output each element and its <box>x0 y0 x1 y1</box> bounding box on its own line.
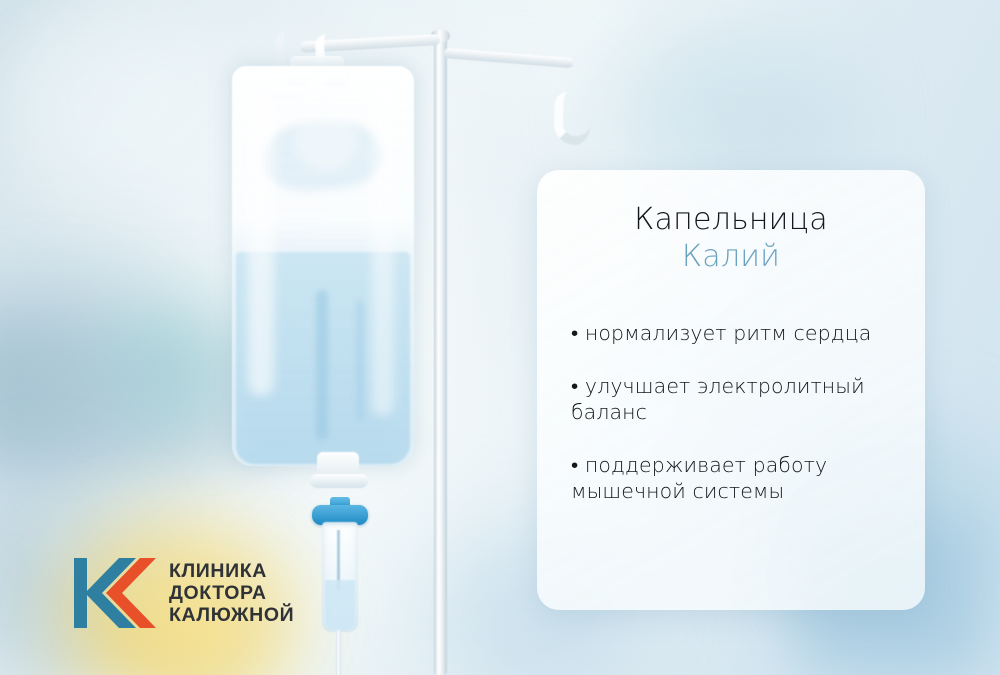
kk-monogram-icon <box>74 556 156 630</box>
logo-line: ДОКТОРА <box>169 582 294 604</box>
iv-port-ring <box>310 474 368 488</box>
card-title: Капельница <box>563 204 899 236</box>
promo-banner: Капельница Калий • нормализует ритм серд… <box>0 0 1000 675</box>
iv-pole-post <box>434 36 447 675</box>
logo-line: КАЛЮЖНОЙ <box>169 604 294 626</box>
iv-hook-icon <box>553 91 592 145</box>
list-item: • улучшает электролитный баланс <box>571 373 893 426</box>
iv-bag-highlight <box>296 110 356 170</box>
clinic-logo-text: КЛИНИКА ДОКТОРА КАЛЮЖНОЙ <box>169 560 294 627</box>
list-item: • поддерживает работу мышечной системы <box>571 452 893 505</box>
logo-line: КЛИНИКА <box>169 560 294 582</box>
list-item: • нормализует ритм сердца <box>571 320 893 347</box>
clinic-logo: КЛИНИКА ДОКТОРА КАЛЮЖНОЙ <box>74 556 294 630</box>
iv-bag-highlight <box>372 86 394 416</box>
card-subtitle: Калий <box>563 238 899 276</box>
info-card: Капельница Калий • нормализует ритм серд… <box>537 170 925 610</box>
benefits-list: • нормализует ритм сердца • улучшает эле… <box>563 320 899 505</box>
iv-tubing <box>336 630 341 675</box>
drip-chamber-fluid <box>325 580 355 630</box>
iv-bag-highlight <box>248 96 274 396</box>
iv-bag-stripe <box>316 290 328 440</box>
iv-bag-stripe <box>356 300 364 420</box>
